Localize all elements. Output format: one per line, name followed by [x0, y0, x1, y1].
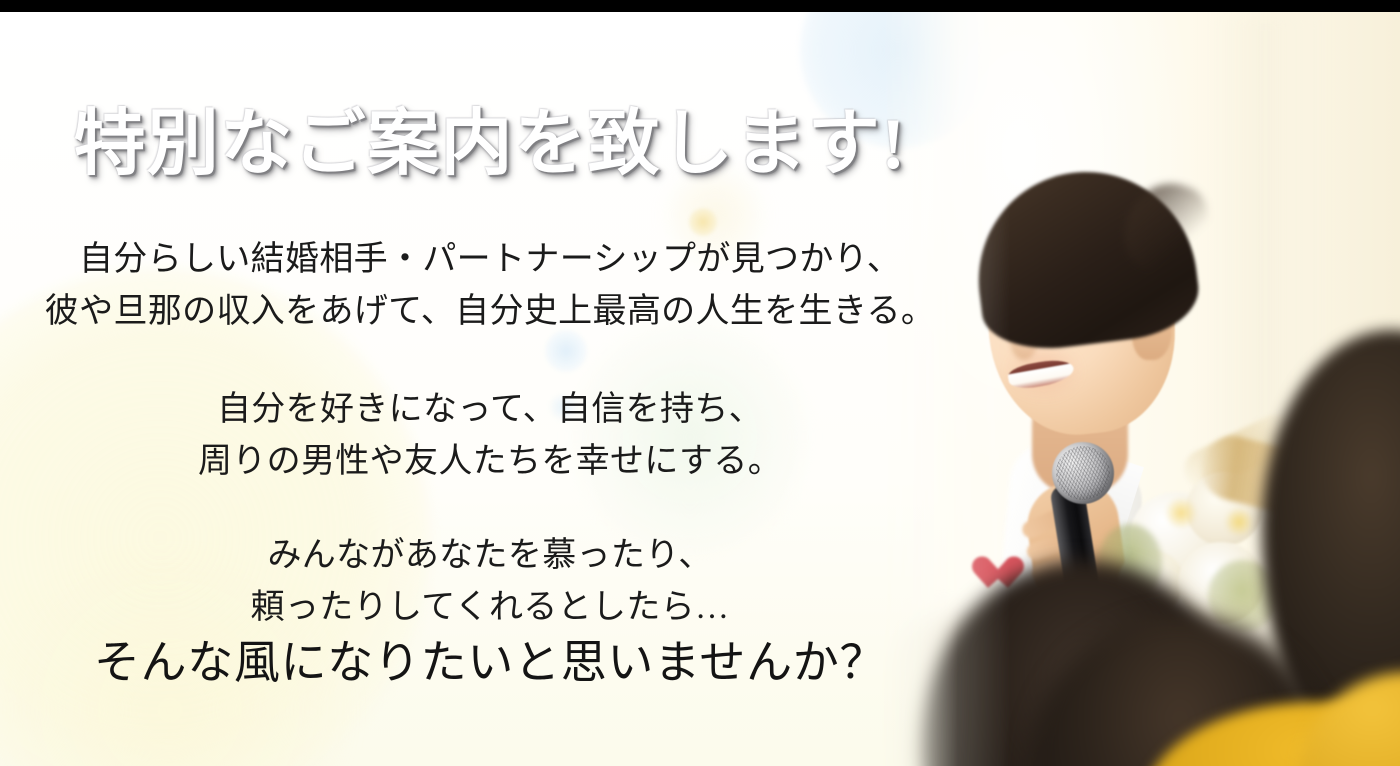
promo-hero-slide: 特別なご案内を致します! 自分らしい結婚相手・パートナーシップが見つかり、 彼や… — [0, 0, 1400, 766]
body-paragraph-1: 自分らしい結婚相手・パートナーシップが見つかり、 彼や旦那の収入をあげて、自分史… — [0, 234, 980, 337]
body-line: 自分らしい結婚相手・パートナーシップが見つかり、 — [0, 234, 980, 286]
corsage-yellow-center — [1164, 498, 1198, 528]
page-title: 特別なご案内を致します! — [0, 108, 980, 180]
text-content: 特別なご案内を致します! 自分らしい結婚相手・パートナーシップが見つかり、 彼や… — [0, 12, 980, 766]
body-line: みんながあなたを慕ったり、 — [0, 530, 980, 582]
body-paragraph-3: みんながあなたを慕ったり、 頼ったりしてくれるとしたら… — [0, 530, 980, 633]
body-line: 自分を好きになって、自信を持ち、 — [0, 384, 980, 436]
closing-question: そんな風になりたいと思いませんか？ — [0, 634, 980, 692]
body-line: 彼や旦那の収入をあげて、自分史上最高の人生を生きる。 — [0, 286, 980, 338]
body-line: 周りの男性や友人たちを幸せにする。 — [0, 436, 980, 488]
corsage-yellow-center — [1224, 508, 1254, 536]
body-paragraph-2: 自分を好きになって、自信を持ち、 周りの男性や友人たちを幸せにする。 — [0, 384, 980, 487]
top-black-bar — [0, 0, 1400, 12]
body-line: 頼ったりしてくれるとしたら… — [0, 582, 980, 634]
